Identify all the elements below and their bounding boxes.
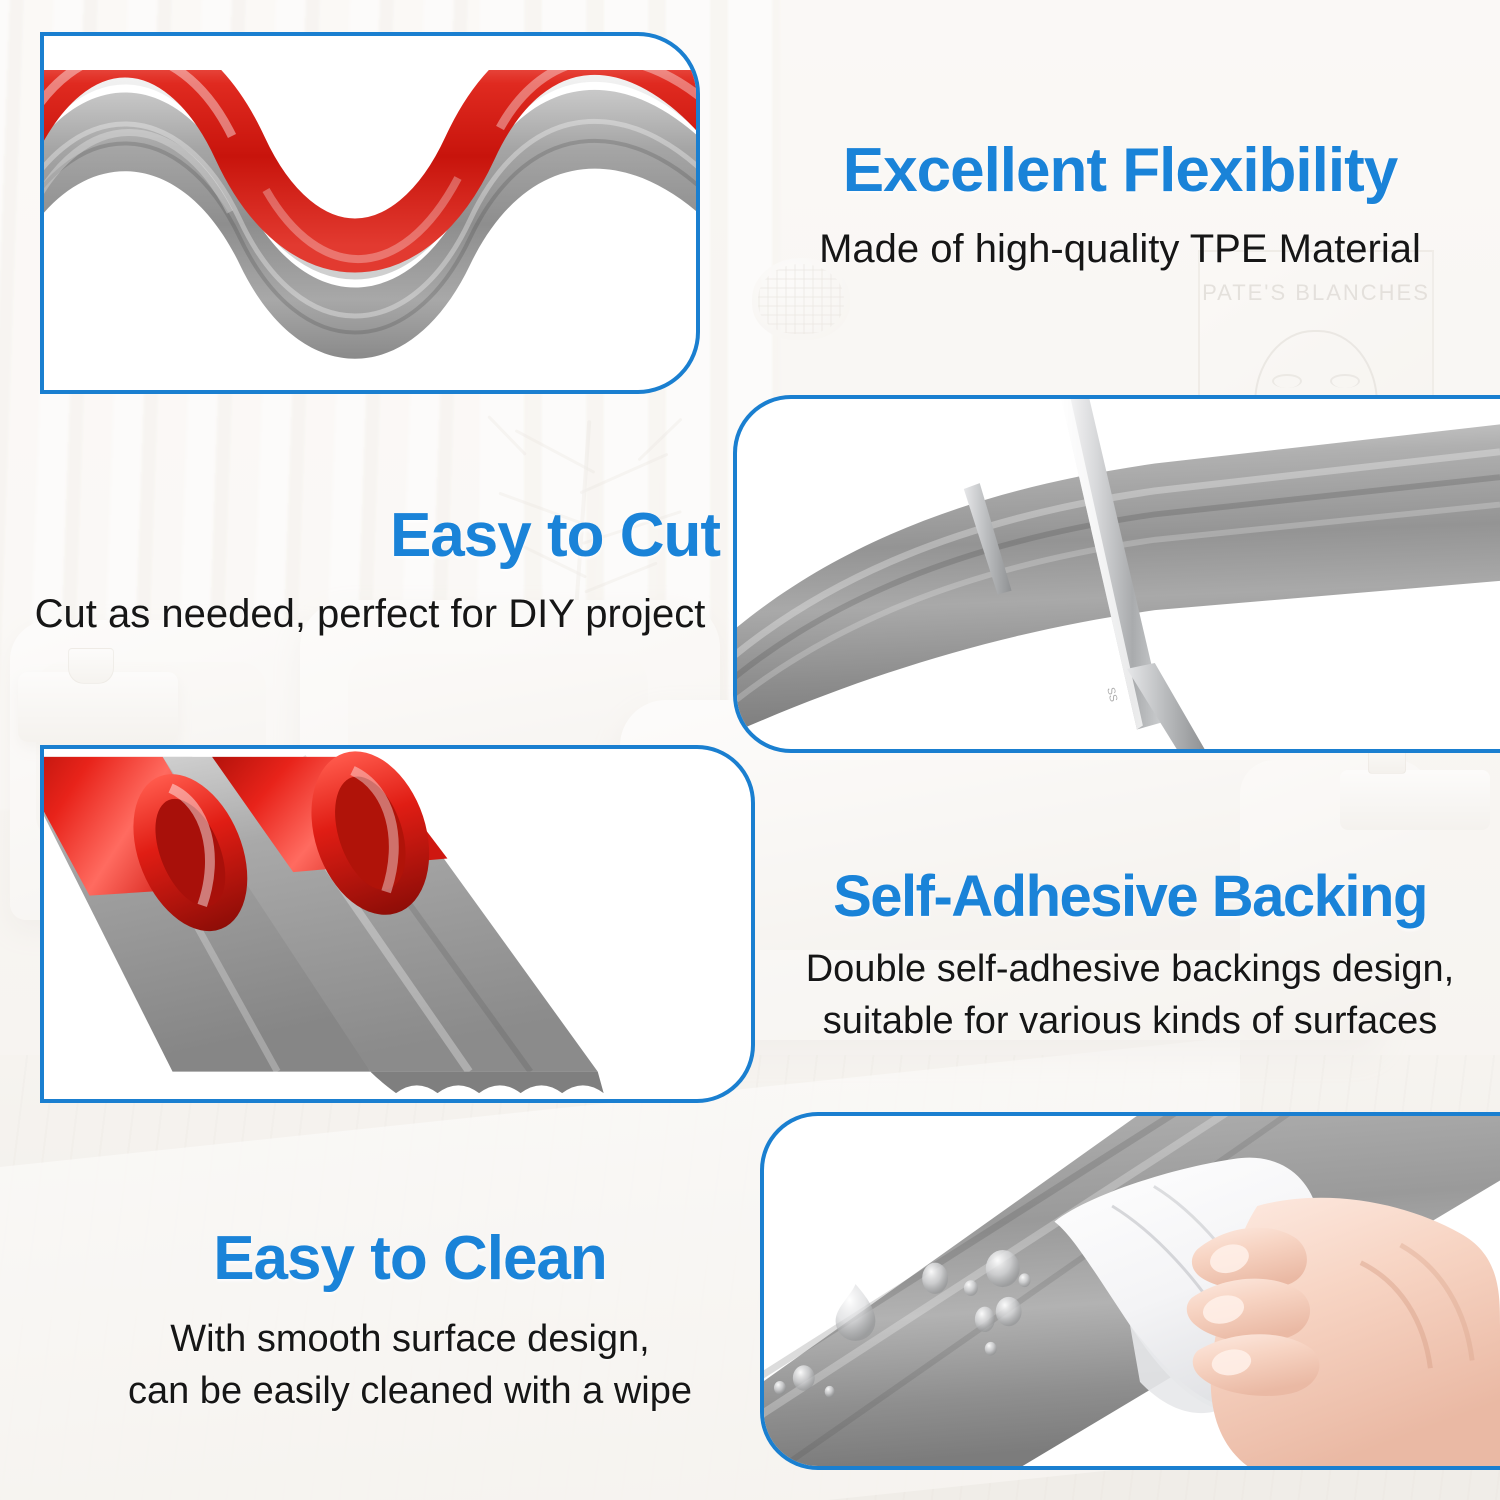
subtitle-excellent-flexibility: Made of high-quality TPE Material: [760, 224, 1480, 274]
subtitle-easy-to-clean-line2: can be easily cleaned with a wipe: [80, 1368, 740, 1416]
heading-easy-to-clean: Easy to Clean: [80, 1228, 740, 1290]
feature-image-panel-flexibility: [40, 32, 700, 394]
feature-text-self-adhesive: Self-Adhesive Backing Double self-adhesi…: [780, 868, 1480, 1046]
subtitle-easy-to-clean-line1: With smooth surface design,: [80, 1316, 740, 1364]
feature-image-panel-self-adhesive: [40, 745, 755, 1103]
feature-image-panel-easy-to-cut: SS: [733, 395, 1500, 753]
svg-text:SS: SS: [1104, 686, 1119, 703]
subtitle-easy-to-cut: Cut as needed, perfect for DIY project: [20, 589, 720, 639]
serpentine-flexible-strip-illustration: [44, 70, 696, 370]
subtitle-self-adhesive-line2: suitable for various kinds of surfaces: [780, 998, 1480, 1046]
feature-text-flexibility: Excellent Flexibility Made of high-quali…: [760, 140, 1480, 274]
peeling-adhesive-liner-illustration: [44, 749, 751, 1099]
heading-excellent-flexibility: Excellent Flexibility: [760, 140, 1480, 202]
feature-text-easy-to-clean: Easy to Clean With smooth surface design…: [80, 1228, 740, 1416]
heading-self-adhesive-backing: Self-Adhesive Backing: [780, 868, 1480, 926]
subtitle-self-adhesive-line1: Double self-adhesive backings design,: [780, 946, 1480, 994]
scissors-cutting-illustration: SS: [737, 399, 1500, 749]
feature-image-panel-easy-to-clean: [760, 1112, 1500, 1470]
feature-text-easy-to-cut: Easy to Cut Cut as needed, perfect for D…: [20, 505, 720, 639]
heading-easy-to-cut: Easy to Cut: [20, 505, 720, 567]
hand-wiping-illustration: [764, 1116, 1500, 1466]
infographic-canvas: PATE'S BLANCHES: [0, 0, 1500, 1500]
